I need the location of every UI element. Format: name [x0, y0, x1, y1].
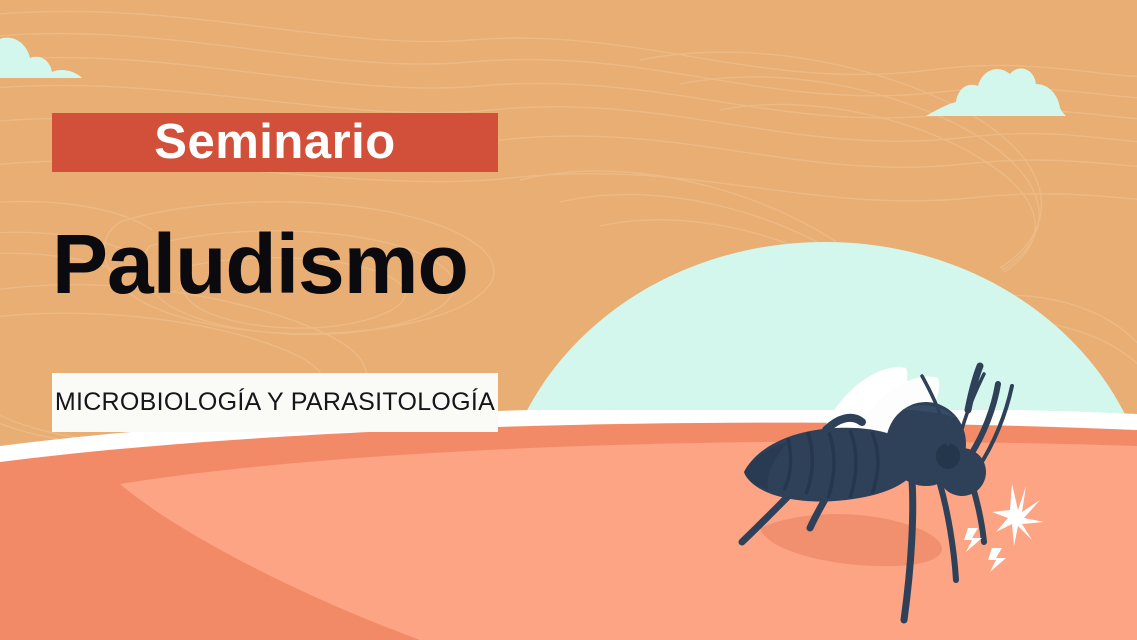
mosquito-illustration: [726, 352, 1056, 640]
cloud-top-right-icon: [922, 58, 1067, 120]
seminario-banner: Seminario: [52, 113, 498, 172]
page-title: Paludismo: [52, 222, 468, 306]
banner-label: Seminario: [154, 118, 395, 167]
title-text-block: Seminario: [52, 113, 498, 172]
subtitle-box: MICROBIOLOGÍA Y PARASITOLOGÍA: [52, 373, 498, 432]
cloud-top-left-icon: [0, 18, 84, 84]
subtitle-label: MICROBIOLOGÍA Y PARASITOLOGÍA: [55, 390, 495, 415]
presentation-slide: Seminario Paludismo MICROBIOLOGÍA Y PARA…: [0, 0, 1137, 640]
